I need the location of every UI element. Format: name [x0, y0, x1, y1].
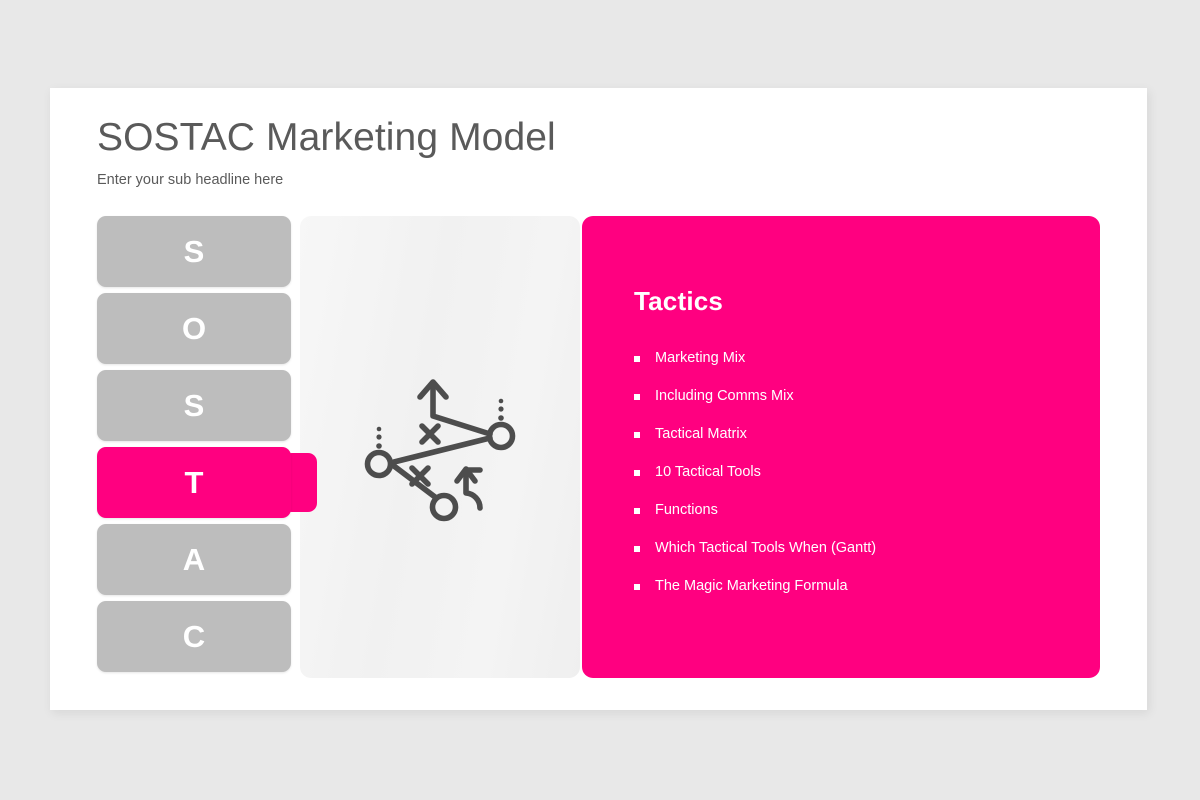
- list-item: Functions: [634, 503, 1070, 519]
- letter-glyph: S: [184, 236, 205, 267]
- illustration-panel: [300, 216, 580, 678]
- list-item-label: Marketing Mix: [655, 351, 745, 367]
- letter-glyph: C: [183, 621, 205, 652]
- list-item: Marketing Mix: [634, 351, 1070, 367]
- letter-block-control[interactable]: C: [97, 601, 291, 672]
- letter-block-tactics[interactable]: T: [97, 447, 291, 518]
- list-item-label: 10 Tactical Tools: [655, 465, 761, 481]
- list-item: Including Comms Mix: [634, 389, 1070, 405]
- square-bullet-icon: [634, 508, 640, 514]
- slide-card: SOSTAC Marketing Model Enter your sub he…: [50, 88, 1147, 710]
- letter-block-objectives[interactable]: O: [97, 293, 291, 364]
- list-item-label: Which Tactical Tools When (Gantt): [655, 541, 876, 557]
- list-item-label: Functions: [655, 503, 718, 519]
- square-bullet-icon: [634, 432, 640, 438]
- tactics-bullet-list: Marketing MixIncluding Comms MixTactical…: [634, 351, 1070, 595]
- tactics-playbook-icon: [362, 369, 518, 525]
- list-item-label: The Magic Marketing Formula: [655, 579, 848, 595]
- panel-heading: Tactics: [634, 286, 1070, 317]
- square-bullet-icon: [634, 356, 640, 362]
- tactics-content-panel: Tactics Marketing MixIncluding Comms Mix…: [582, 216, 1100, 678]
- list-item: 10 Tactical Tools: [634, 465, 1070, 481]
- letter-glyph: O: [182, 313, 206, 344]
- letter-block-strategy[interactable]: S: [97, 370, 291, 441]
- sostac-letters-column: SOSTAC: [97, 216, 291, 678]
- page-title: SOSTAC Marketing Model: [97, 116, 556, 160]
- letter-glyph: T: [185, 467, 204, 498]
- list-item-label: Tactical Matrix: [655, 427, 747, 443]
- list-item: Tactical Matrix: [634, 427, 1070, 443]
- square-bullet-icon: [634, 546, 640, 552]
- page-subtitle: Enter your sub headline here: [97, 172, 283, 188]
- letter-glyph: S: [184, 390, 205, 421]
- square-bullet-icon: [634, 394, 640, 400]
- letter-block-situation[interactable]: S: [97, 216, 291, 287]
- list-item-label: Including Comms Mix: [655, 389, 794, 405]
- square-bullet-icon: [634, 470, 640, 476]
- letter-glyph: A: [183, 544, 205, 575]
- list-item: The Magic Marketing Formula: [634, 579, 1070, 595]
- list-item: Which Tactical Tools When (Gantt): [634, 541, 1070, 557]
- square-bullet-icon: [634, 584, 640, 590]
- letter-block-action[interactable]: A: [97, 524, 291, 595]
